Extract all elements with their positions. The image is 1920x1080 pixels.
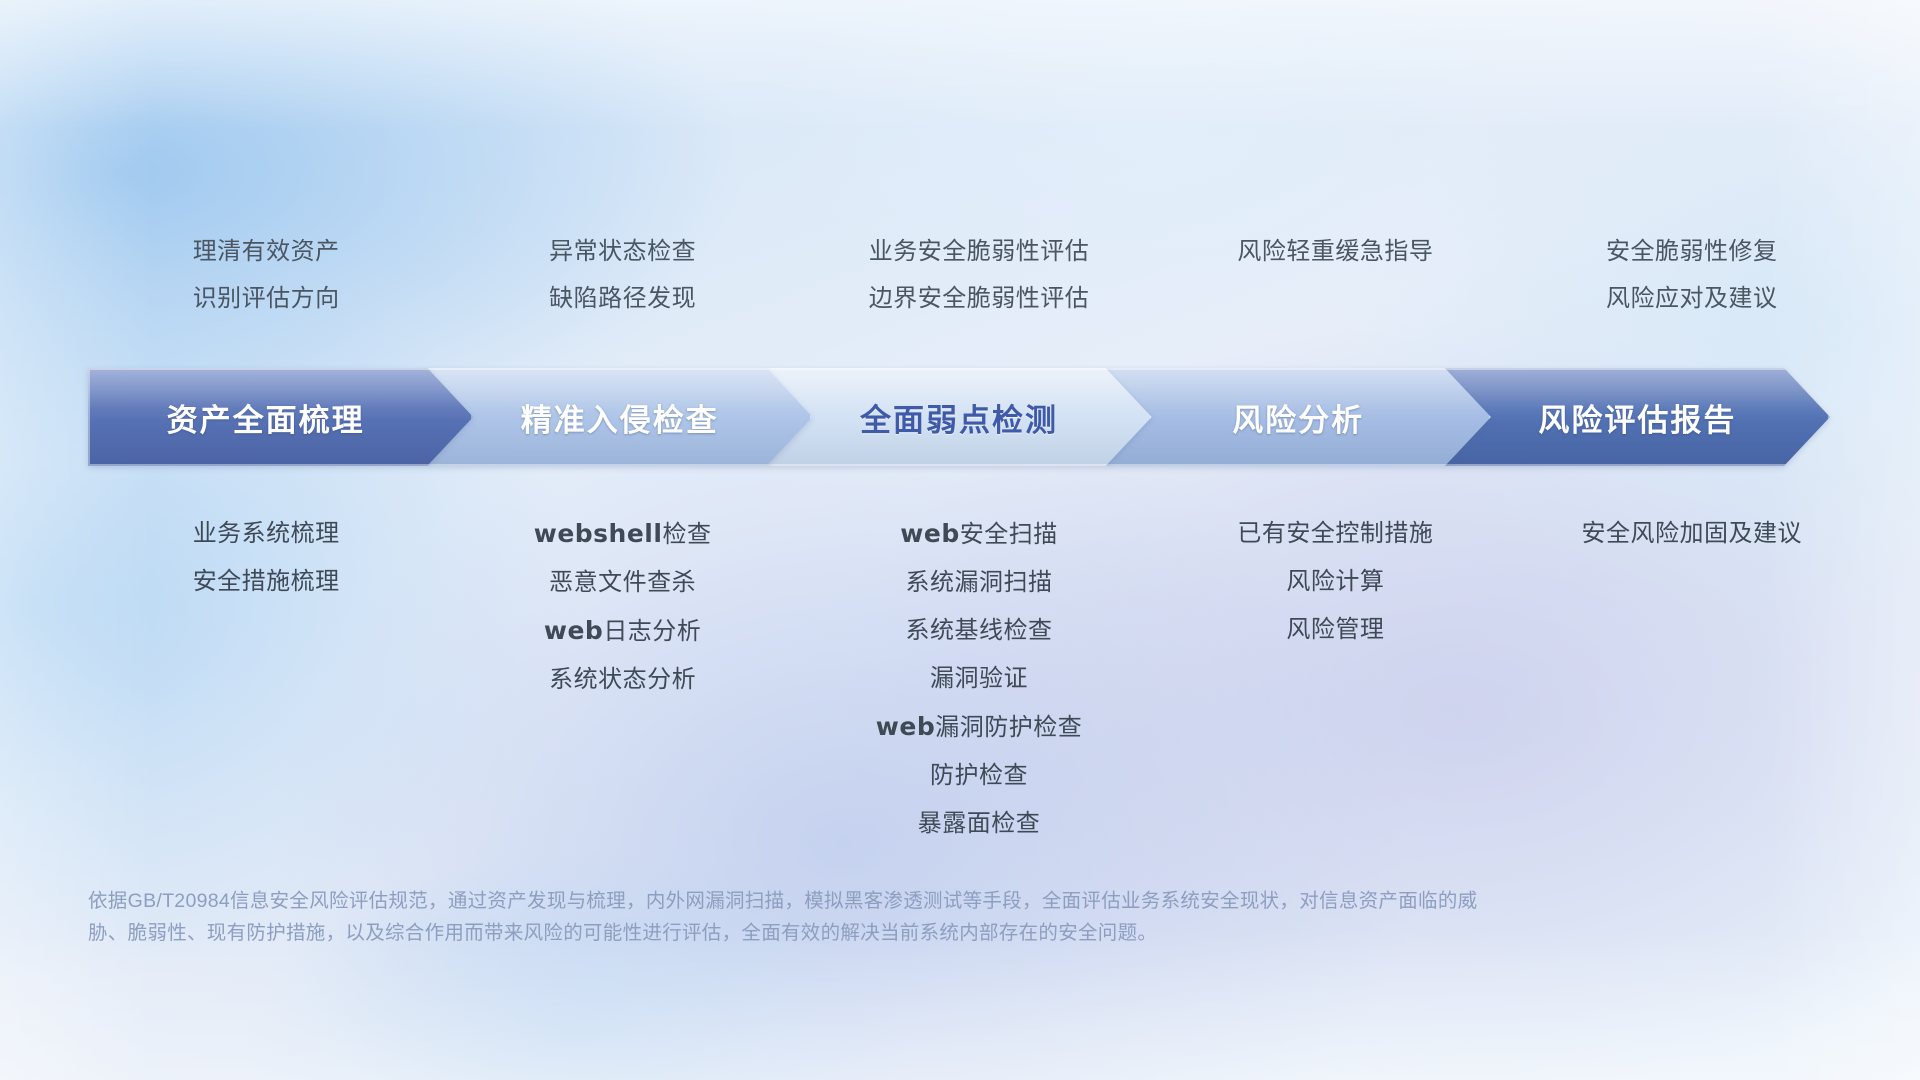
stage-bottom-caption-line: 安全风险加固及建议 xyxy=(1514,510,1870,558)
stage-top-caption-line: 业务安全脆弱性评估 xyxy=(801,228,1157,275)
footer-description: 依据GB/T20984信息安全风险评估规范，通过资产发现与梳理，内外网漏洞扫描，… xyxy=(88,885,1488,949)
stage-top-caption-line: 缺陷路径发现 xyxy=(444,275,800,322)
stage-bottom-captions: 安全风险加固及建议 xyxy=(1514,510,1870,558)
stage-bottom-caption-line: 系统漏洞扫描 xyxy=(801,559,1157,607)
stage-bottom-captions: web安全扫描系统漏洞扫描系统基线检查漏洞验证web漏洞防护检查防护检查暴露面检… xyxy=(801,510,1157,848)
stage-bottom-caption-line: 漏洞验证 xyxy=(801,655,1157,703)
process-stage-chevron[interactable]: 资产全面梳理 xyxy=(88,368,473,466)
stage-bottom-caption-line: webshell检查 xyxy=(444,510,800,559)
stage-top-captions: 异常状态检查缺陷路径发现 xyxy=(444,228,800,322)
stage-bottom-caption-line: 防护检查 xyxy=(801,752,1157,800)
caption-cjk-token: 安全扫描 xyxy=(960,521,1058,548)
stage-bottom-caption-line: 业务系统梳理 xyxy=(88,510,444,558)
stage-bottom-caption-line: 风险管理 xyxy=(1157,606,1513,654)
stage-bottom-caption-line: 恶意文件查杀 xyxy=(444,559,800,607)
stage-bottom-caption-line: web漏洞防护检查 xyxy=(801,703,1157,752)
stage-top-captions: 风险轻重缓急指导 xyxy=(1157,228,1513,322)
stage-top-captions: 理清有效资产识别评估方向 xyxy=(88,228,444,322)
stage-top-caption-line: 边界安全脆弱性评估 xyxy=(801,275,1157,322)
stage-top-caption-line: 异常状态检查 xyxy=(444,228,800,275)
footer-paragraph: 依据GB/T20984信息安全风险评估规范，通过资产发现与梳理，内外网漏洞扫描，… xyxy=(88,885,1488,949)
stage-bottom-caption-line: 系统状态分析 xyxy=(444,656,800,704)
chevron-label: 风险分析 xyxy=(1106,395,1491,440)
process-stage-chevron[interactable]: 风险分析 xyxy=(1106,368,1491,466)
caption-latin-token: web xyxy=(900,519,959,548)
caption-latin-token: web xyxy=(544,616,603,645)
stage-bottom-caption-line: 系统基线检查 xyxy=(801,607,1157,655)
chevron-label: 资产全面梳理 xyxy=(88,395,473,440)
chevron-label: 精准入侵检查 xyxy=(427,395,812,440)
stage-top-caption-line: 风险轻重缓急指导 xyxy=(1157,228,1513,275)
slide-canvas: 理清有效资产识别评估方向异常状态检查缺陷路径发现业务安全脆弱性评估边界安全脆弱性… xyxy=(0,0,1920,1080)
top-captions-row: 理清有效资产识别评估方向异常状态检查缺陷路径发现业务安全脆弱性评估边界安全脆弱性… xyxy=(88,228,1870,322)
caption-cjk-token: 漏洞防护检查 xyxy=(935,714,1082,741)
caption-latin-token: web xyxy=(876,712,935,741)
stage-top-caption-line: 识别评估方向 xyxy=(88,275,444,322)
stage-top-captions: 业务安全脆弱性评估边界安全脆弱性评估 xyxy=(801,228,1157,322)
caption-cjk-token: 检查 xyxy=(662,521,711,548)
stage-bottom-caption-line: web安全扫描 xyxy=(801,510,1157,559)
stage-bottom-caption-line: 已有安全控制措施 xyxy=(1157,510,1513,558)
stage-bottom-caption-line: 暴露面检查 xyxy=(801,800,1157,848)
process-stage-chevron[interactable]: 精准入侵检查 xyxy=(427,368,812,466)
stage-top-captions: 安全脆弱性修复风险应对及建议 xyxy=(1514,228,1870,322)
process-stage-chevron[interactable]: 风险评估报告 xyxy=(1445,368,1830,466)
chevron-label: 全面弱点检测 xyxy=(766,395,1151,440)
stage-bottom-captions: webshell检查恶意文件查杀web日志分析系统状态分析 xyxy=(444,510,800,704)
stage-bottom-captions: 业务系统梳理安全措施梳理 xyxy=(88,510,444,606)
stage-bottom-caption-line: web日志分析 xyxy=(444,607,800,656)
process-stage-chevron[interactable]: 全面弱点检测 xyxy=(766,368,1151,466)
stage-bottom-caption-line: 风险计算 xyxy=(1157,558,1513,606)
process-chevron-band: 资产全面梳理精准入侵检查全面弱点检测风险分析风险评估报告 xyxy=(88,368,1830,466)
stage-top-caption-line: 安全脆弱性修复 xyxy=(1514,228,1870,275)
stage-bottom-captions: 已有安全控制措施风险计算风险管理 xyxy=(1157,510,1513,654)
chevron-label: 风险评估报告 xyxy=(1445,395,1830,440)
stage-top-caption-line: 理清有效资产 xyxy=(88,228,444,275)
caption-latin-token: webshell xyxy=(534,519,663,548)
bottom-captions-row: 业务系统梳理安全措施梳理webshell检查恶意文件查杀web日志分析系统状态分… xyxy=(88,510,1870,848)
caption-cjk-token: 日志分析 xyxy=(603,618,701,645)
stage-top-caption-line: 风险应对及建议 xyxy=(1514,275,1870,322)
stage-bottom-caption-line: 安全措施梳理 xyxy=(88,558,444,606)
